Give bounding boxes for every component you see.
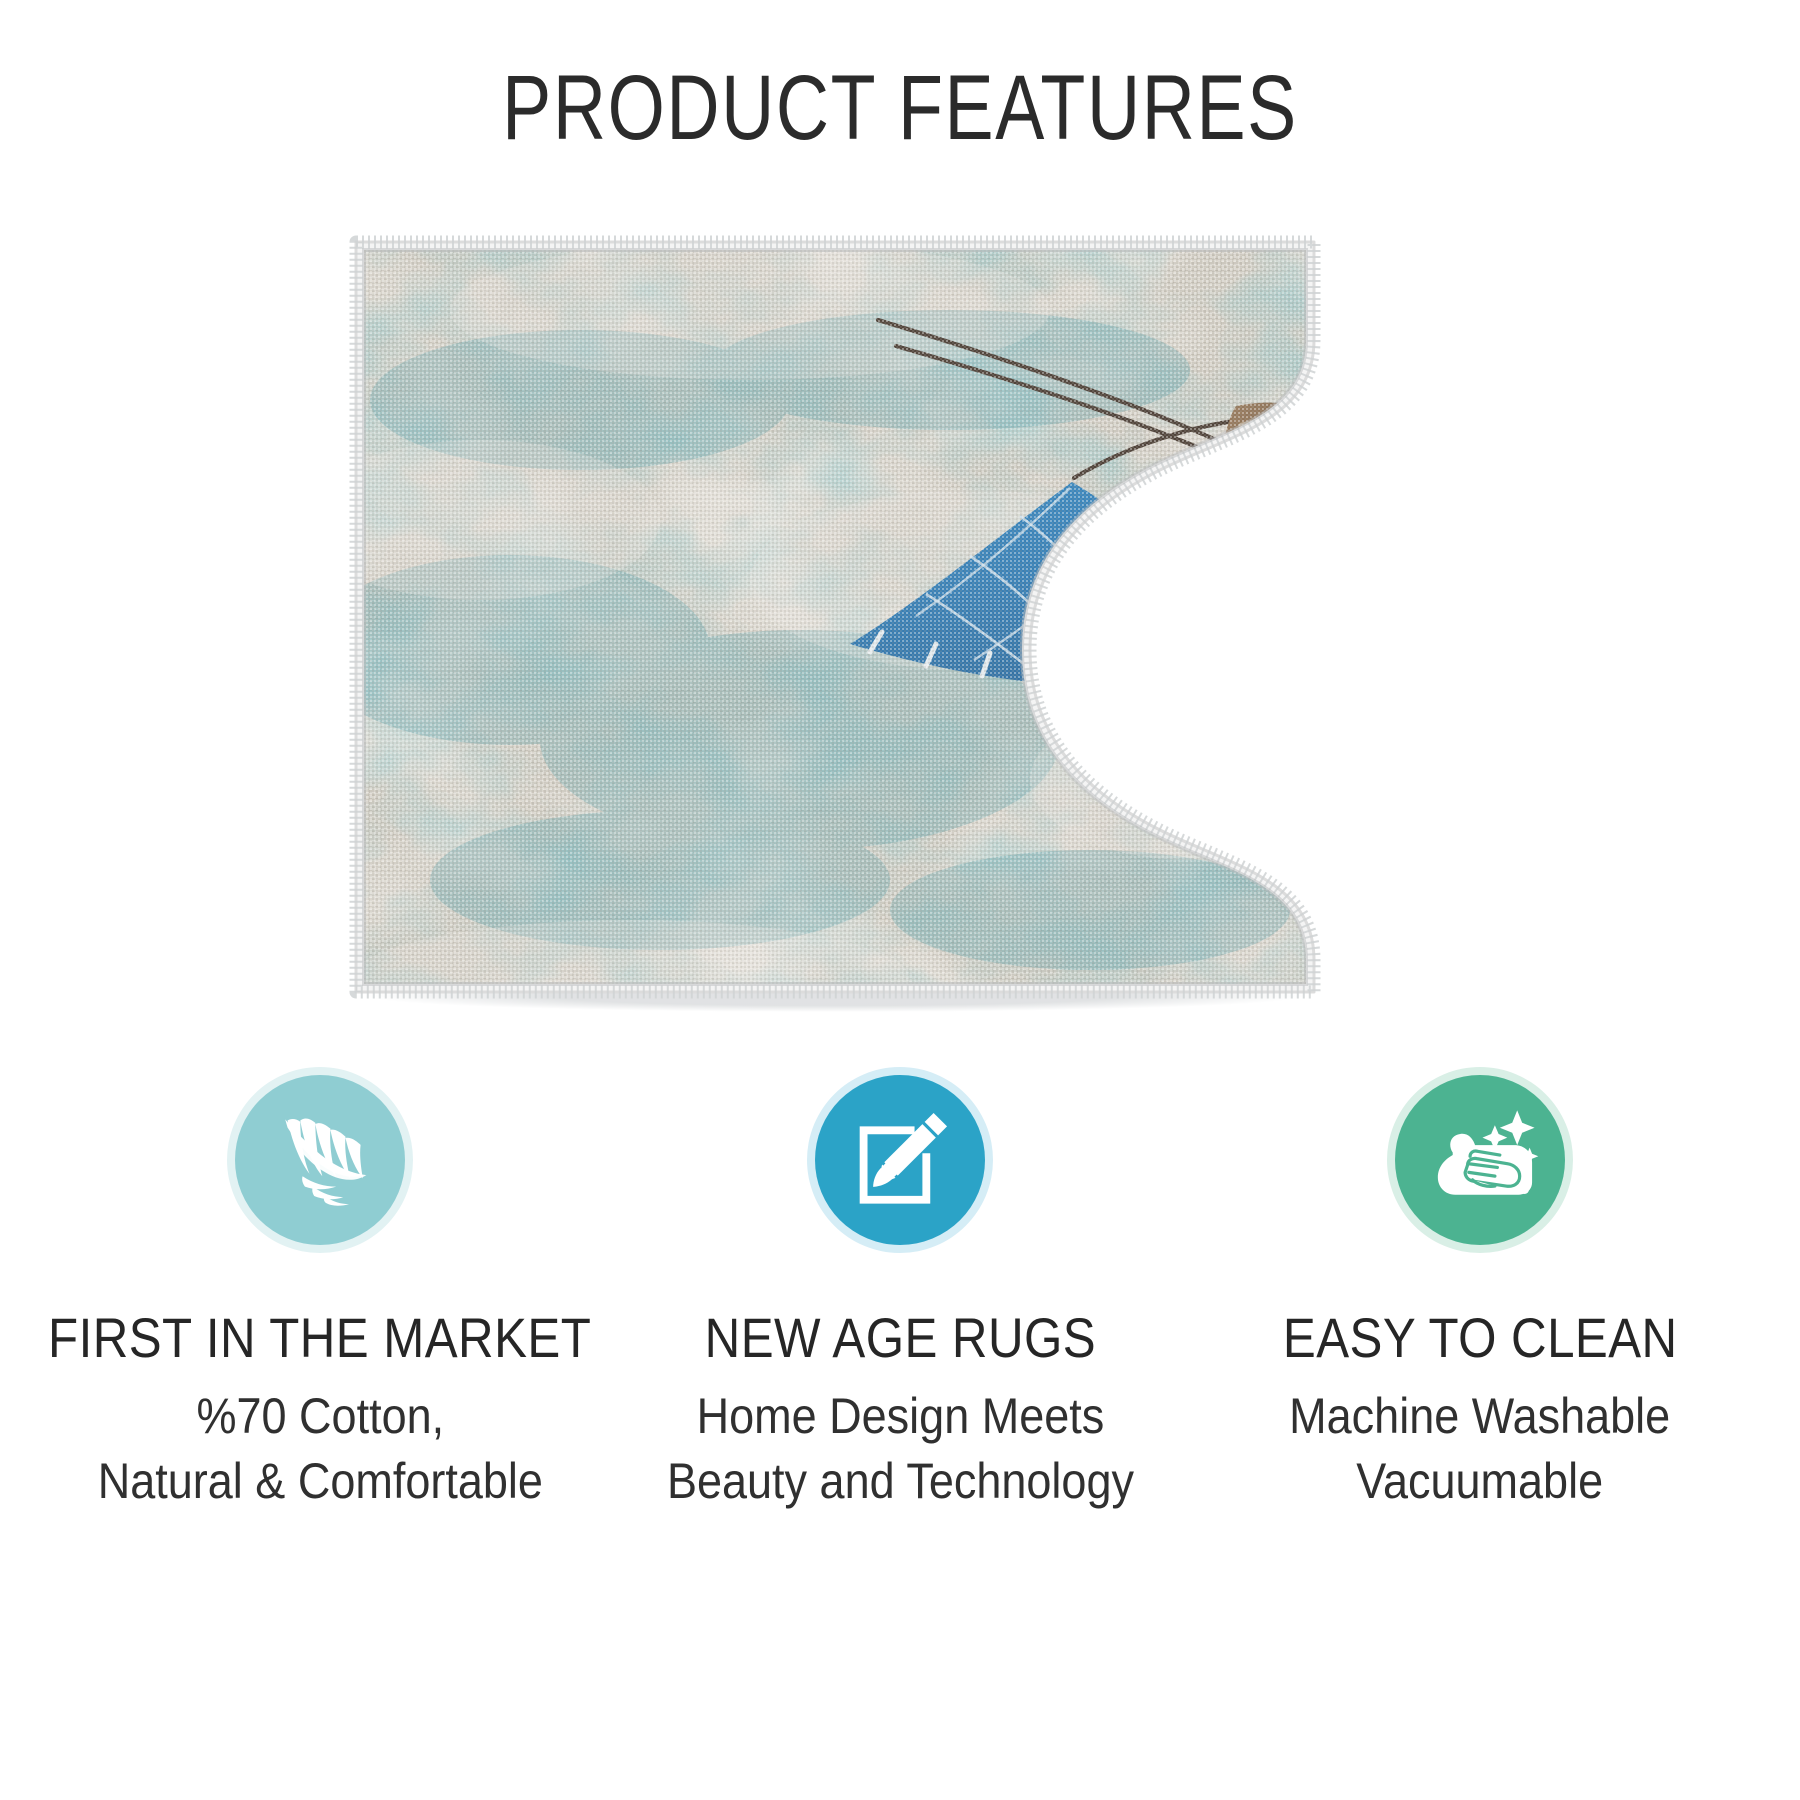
feature-subtext: Home Design Meets Beauty and Technology	[666, 1384, 1133, 1514]
clean-icon-wrap	[1375, 1055, 1585, 1265]
feather-icon-wrap	[215, 1055, 425, 1265]
feather-icon-disc	[235, 1075, 405, 1245]
design-pencil-brush-icon	[844, 1104, 956, 1216]
rug-illustration	[330, 220, 1340, 1020]
feature-heading: NEW AGE RUGS	[704, 1309, 1095, 1368]
blue-pennant	[1328, 406, 1340, 456]
feature-subtext: %70 Cotton, Natural & Comfortable	[97, 1384, 542, 1514]
feature-heading: FIRST IN THE MARKET	[48, 1309, 591, 1368]
feature-subtext-line: Vacuumable	[1289, 1449, 1670, 1514]
feature-card-new-age-rugs: NEW AGE RUGS Home Design Meets Beauty an…	[620, 1055, 1180, 1514]
design-icon-wrap	[795, 1055, 1005, 1265]
feature-subtext-line: %70 Cotton,	[97, 1384, 542, 1449]
pile-rows	[330, 222, 1340, 1020]
feature-card-first-in-the-market: FIRST IN THE MARKET %70 Cotton, Natural …	[40, 1055, 600, 1514]
product-image	[330, 220, 1340, 1020]
feature-heading: EASY TO CLEAN	[1283, 1309, 1678, 1368]
features-row: FIRST IN THE MARKET %70 Cotton, Natural …	[0, 1055, 1800, 1514]
page-title: PRODUCT FEATURES	[180, 62, 1620, 154]
feature-card-easy-to-clean: EASY TO CLEAN Machine Washable Vacuumabl…	[1200, 1055, 1760, 1514]
feature-subtext-line: Machine Washable	[1289, 1384, 1670, 1449]
feature-subtext-line: Natural & Comfortable	[97, 1449, 542, 1514]
feature-subtext-line: Home Design Meets	[666, 1384, 1133, 1449]
clean-icon-disc	[1395, 1075, 1565, 1245]
rug-pile	[330, 220, 1340, 1020]
design-icon-disc	[815, 1075, 985, 1245]
feather-icon	[262, 1102, 378, 1218]
wiping-hand-sparkle-icon	[1418, 1098, 1542, 1222]
feature-subtext-line: Beauty and Technology	[666, 1449, 1133, 1514]
feature-subtext: Machine Washable Vacuumable	[1289, 1384, 1670, 1514]
